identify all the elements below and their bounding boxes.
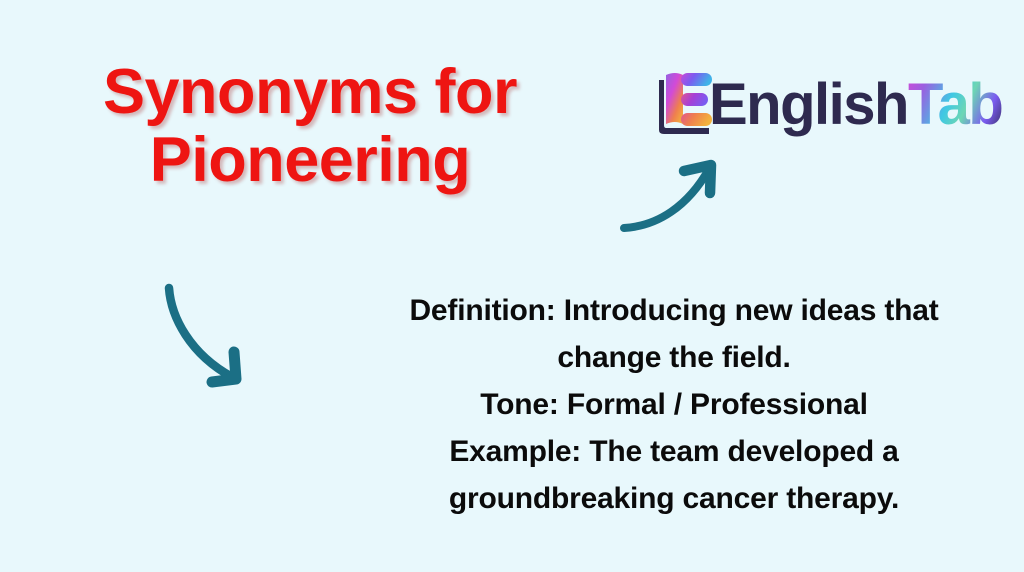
body-line-definition-2: change the field. (350, 334, 998, 381)
body-line-example-1: Example: The team developed a (350, 428, 998, 475)
logo-word-english: English (709, 72, 908, 137)
curved-arrow-up-right-icon (608, 150, 728, 245)
logo-word-tab: Tab (908, 72, 1002, 137)
page-title: Synonyms for Pioneering (20, 58, 600, 194)
open-book-icon (655, 66, 713, 140)
title-line-1: Synonyms for (20, 58, 600, 126)
slide-canvas: Synonyms for Pioneering (0, 0, 1024, 572)
englishtab-logo[interactable]: EnglishTab (655, 62, 1005, 144)
body-line-tone: Tone: Formal / Professional (350, 381, 998, 428)
body-line-example-2: groundbreaking cancer therapy. (350, 475, 998, 522)
curved-arrow-down-right-icon (150, 272, 270, 397)
body-line-definition-1: Definition: Introducing new ideas that (350, 287, 998, 334)
definition-block: Definition: Introducing new ideas that c… (350, 287, 998, 522)
title-line-2: Pioneering (20, 126, 600, 194)
logo-wordmark: EnglishTab (709, 76, 1002, 134)
